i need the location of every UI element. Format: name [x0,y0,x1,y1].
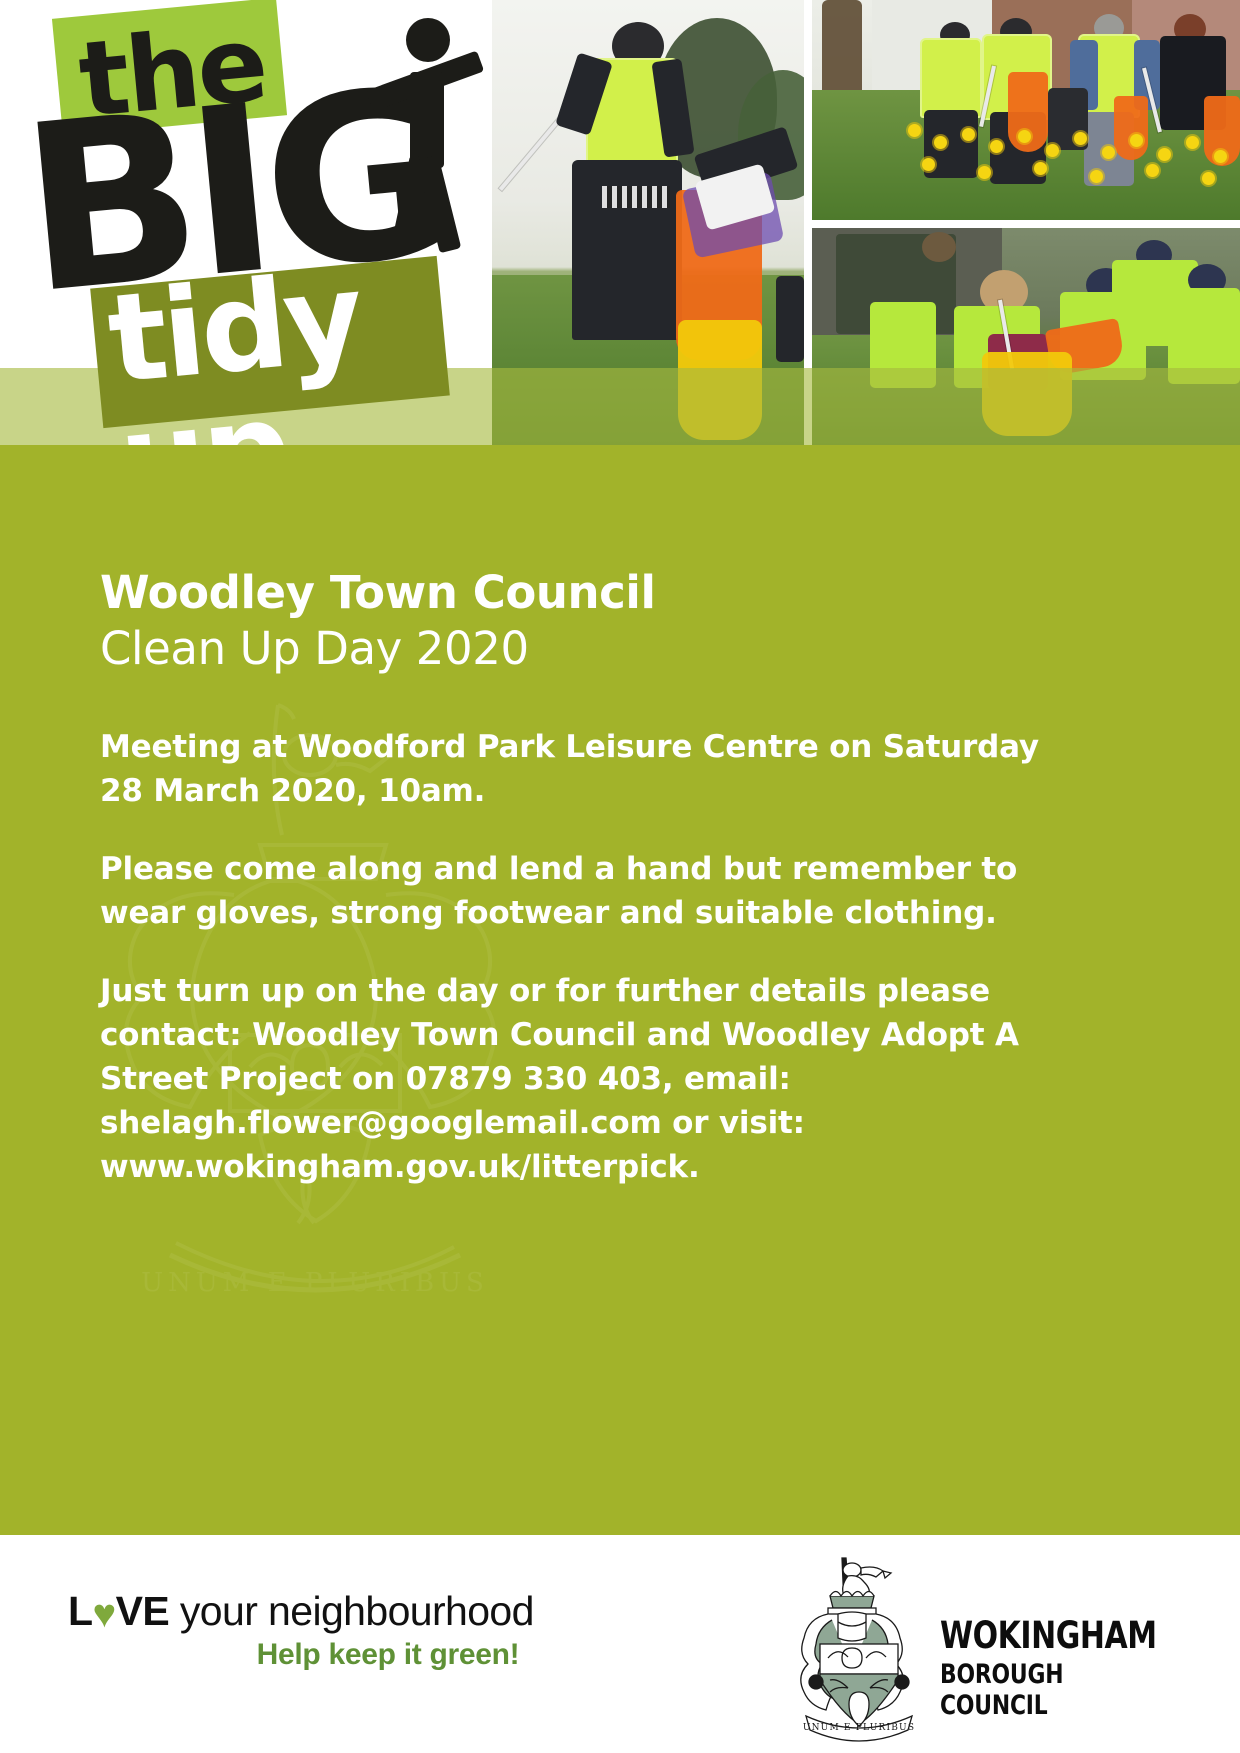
main-green-panel: UNUM E PLURIBUS Woodley Town Council Cle… [0,445,1240,1530]
big-tidy-up-logo: the BIG tidy up [0,0,492,445]
daffodil [1146,164,1159,177]
daffodil [1130,134,1143,147]
council-name-line-2: BOROUGH COUNCIL [940,1659,1174,1721]
paragraph-contact-details: Just turn up on the day or for further d… [100,969,1040,1189]
person-pictogram-icon [378,18,498,248]
daffodil [1102,146,1115,159]
footer-divider [0,1530,1240,1535]
daffodil [1018,130,1031,143]
photo-volunteers-daffodils [812,0,1240,220]
daffodil [962,128,975,141]
logo-tidyup-block: tidy up [90,256,450,428]
daffodil [1186,136,1199,149]
watermark-motto: UNUM E PLURIBUS [141,1268,489,1298]
pictogram-head [406,18,450,62]
wokingham-borough-council-logo: UNUM E PLURIBUS WOKINGHAM BOROUGH COUNCI… [700,1542,1200,1747]
daffodil [1090,170,1103,183]
hi-vis-jacket [920,38,982,118]
love-logo-VE: VE [116,1588,170,1634]
daffodil [1202,172,1215,185]
love-logo-rest: your neighbourhood [169,1588,534,1634]
daffodil [990,140,1003,153]
daffodil [978,166,991,179]
adult-head [922,232,956,262]
orange-refuse-bag [1114,96,1148,160]
title-line-1: Woodley Town Council [100,565,1040,621]
daffodil [1214,150,1227,163]
daffodil [934,136,947,149]
daffodil [1046,144,1059,157]
page-title: Woodley Town Council Clean Up Day 2020 [100,565,1040,677]
council-wordmark: WOKINGHAM BOROUGH COUNCIL [940,1614,1200,1721]
hero-photo-strip: the BIG tidy up [0,0,1240,445]
love-logo-line-1: L♥VE your neighbourhood [68,1588,588,1634]
panel-content: Woodley Town Council Clean Up Day 2020 M… [100,565,1040,1189]
daffodil [1158,148,1171,161]
council-crest-icon: UNUM E PLURIBUS [790,1552,930,1742]
footer: L♥VE your neighbourhood Help keep it gre… [0,1530,1240,1753]
pictogram-torso [410,72,444,168]
crest-motto: UNUM E PLURIBUS [803,1723,915,1733]
daffodil [1034,162,1047,175]
paragraph-what-to-wear: Please come along and lend a hand but re… [100,847,1040,935]
love-logo-tagline: Help keep it green! [68,1638,588,1672]
love-your-neighbourhood-logo: L♥VE your neighbourhood Help keep it gre… [68,1588,588,1672]
daffodil [922,158,935,171]
paragraph-meeting: Meeting at Woodford Park Leisure Centre … [100,725,1040,813]
daffodil [1074,132,1087,145]
waist-detail [602,186,670,208]
love-logo-L: L [68,1588,92,1634]
title-line-2: Clean Up Day 2020 [100,621,1040,677]
heart-icon: ♥ [92,1594,115,1634]
pictogram-leg [417,155,462,253]
council-name-line-1: WOKINGHAM [940,1614,1174,1657]
background-person [776,276,804,362]
daffodil [908,124,921,137]
